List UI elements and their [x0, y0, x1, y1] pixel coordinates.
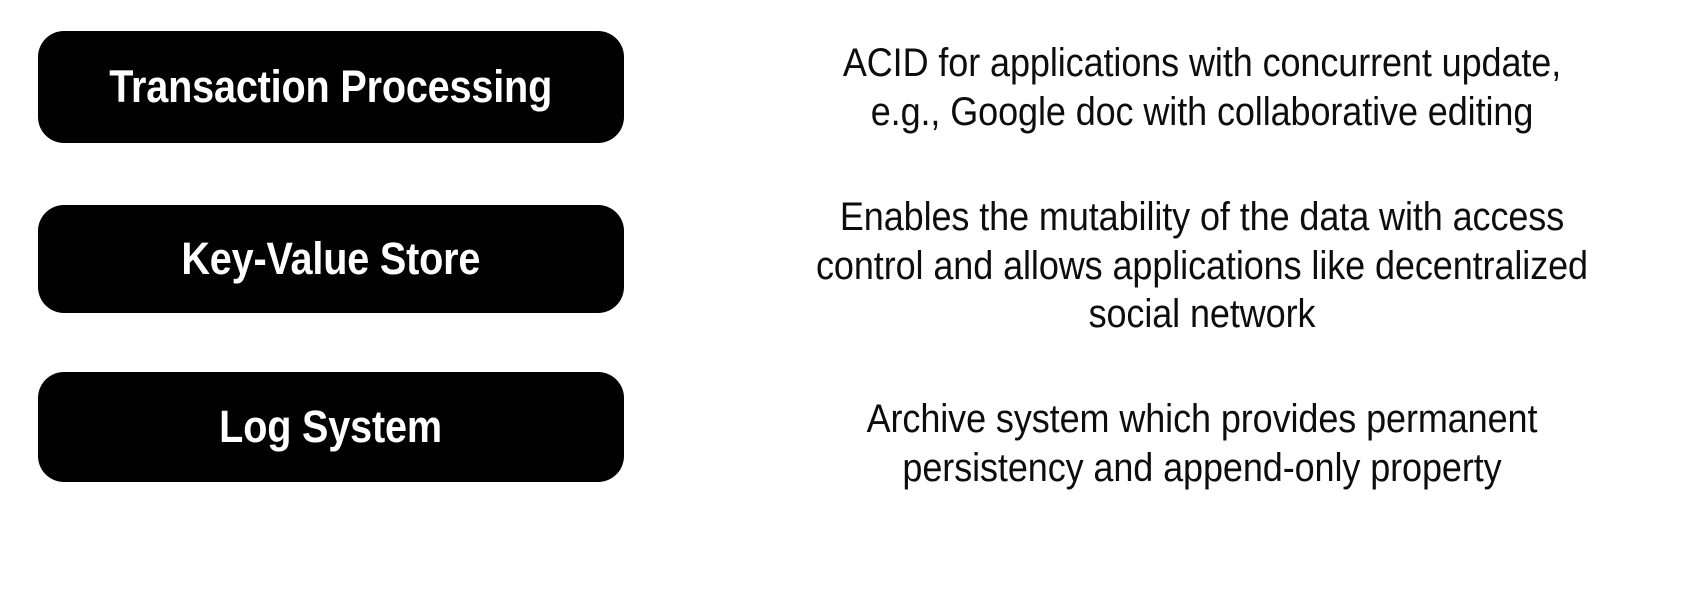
diagram-row: Transaction Processing ACID for applicat… — [0, 14, 1704, 160]
diagram-row: Key-Value Store Enables the mutability o… — [0, 190, 1704, 342]
label-column: Transaction Processing — [0, 14, 700, 160]
description-text-key-value-store: Enables the mutability of the data with … — [806, 193, 1598, 339]
slide-canvas: Transaction Processing ACID for applicat… — [0, 0, 1704, 594]
label-column: Log System — [0, 366, 700, 518]
diagram-row: Log System Archive system which provides… — [0, 366, 1704, 518]
description-column: ACID for applications with concurrent up… — [700, 14, 1704, 160]
label-box-text: Log System — [220, 403, 443, 450]
label-box-log-system[interactable]: Log System — [38, 372, 624, 482]
description-column: Archive system which provides permanent … — [700, 366, 1704, 518]
description-text-transaction-processing: ACID for applications with concurrent up… — [806, 39, 1598, 137]
description-text-log-system: Archive system which provides permanent … — [806, 395, 1598, 493]
label-box-text: Transaction Processing — [110, 63, 553, 110]
description-column: Enables the mutability of the data with … — [700, 190, 1704, 342]
label-box-transaction-processing[interactable]: Transaction Processing — [38, 31, 624, 143]
label-box-key-value-store[interactable]: Key-Value Store — [38, 205, 624, 313]
label-box-text: Key-Value Store — [182, 235, 481, 282]
label-column: Key-Value Store — [0, 190, 700, 342]
